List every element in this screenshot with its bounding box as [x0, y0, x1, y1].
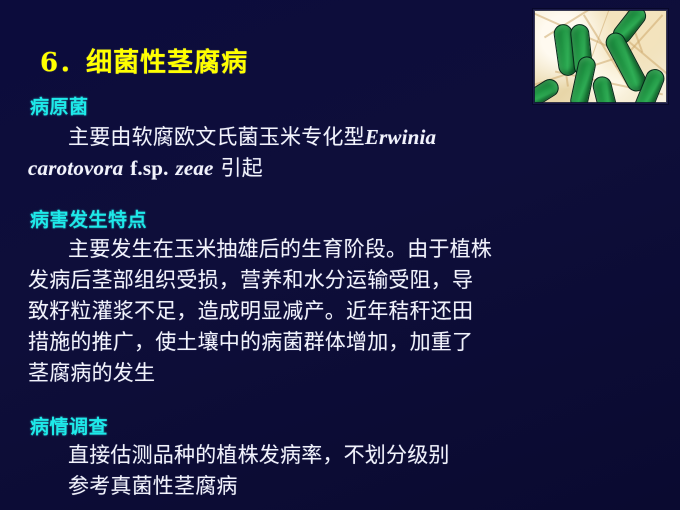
- section-heading-survey: 病情调查: [30, 412, 108, 439]
- section-heading-pathogen: 病原菌: [30, 92, 89, 119]
- scientific-name-forma: zeae: [175, 156, 213, 180]
- pathogen-line2-suffix: 引起: [220, 156, 262, 180]
- body-line: 致籽粒灌浆不足，造成明显减产。近年秸秆还田: [28, 296, 652, 327]
- page-title: 6．细菌性茎腐病: [40, 42, 248, 79]
- section-body-pathogen: 主要由软腐欧文氏菌玉米专化型Erwinia carotovora f.sp. z…: [28, 122, 628, 184]
- slide-canvas: 6．细菌性茎腐病 病原菌 主要由软腐欧文氏菌玉米专化型Erwinia carot…: [0, 0, 680, 510]
- bacteria-micrograph: [533, 9, 668, 104]
- body-line: 主要由软腐欧文氏菌玉米专化型Erwinia: [28, 122, 628, 153]
- section-heading-features: 病害发生特点: [30, 205, 147, 232]
- scientific-name-forma-rank: f.sp.: [130, 156, 168, 180]
- scientific-name-species: carotovora: [28, 156, 123, 180]
- body-line: 主要发生在玉米抽雄后的生育阶段。由于植株: [28, 234, 652, 265]
- pathogen-line1-prefix: 主要由软腐欧文氏菌玉米专化型: [68, 125, 365, 149]
- section-body-features: 主要发生在玉米抽雄后的生育阶段。由于植株 发病后茎部组织受损，营养和水分运输受阻…: [28, 234, 652, 389]
- section-body-survey: 直接估测品种的植株发病率，不划分级别 参考真菌性茎腐病: [28, 440, 652, 502]
- body-line: 参考真菌性茎腐病: [28, 471, 652, 502]
- scientific-name-genus: Erwinia: [365, 125, 436, 149]
- body-line: 茎腐病的发生: [28, 358, 652, 389]
- body-line: 措施的推广，使土壤中的病菌群体增加，加重了: [28, 327, 652, 358]
- body-line: carotovora f.sp. zeae 引起: [28, 153, 628, 184]
- body-line: 直接估测品种的植株发病率，不划分级别: [28, 440, 652, 471]
- body-line: 发病后茎部组织受损，营养和水分运输受阻，导: [28, 265, 652, 296]
